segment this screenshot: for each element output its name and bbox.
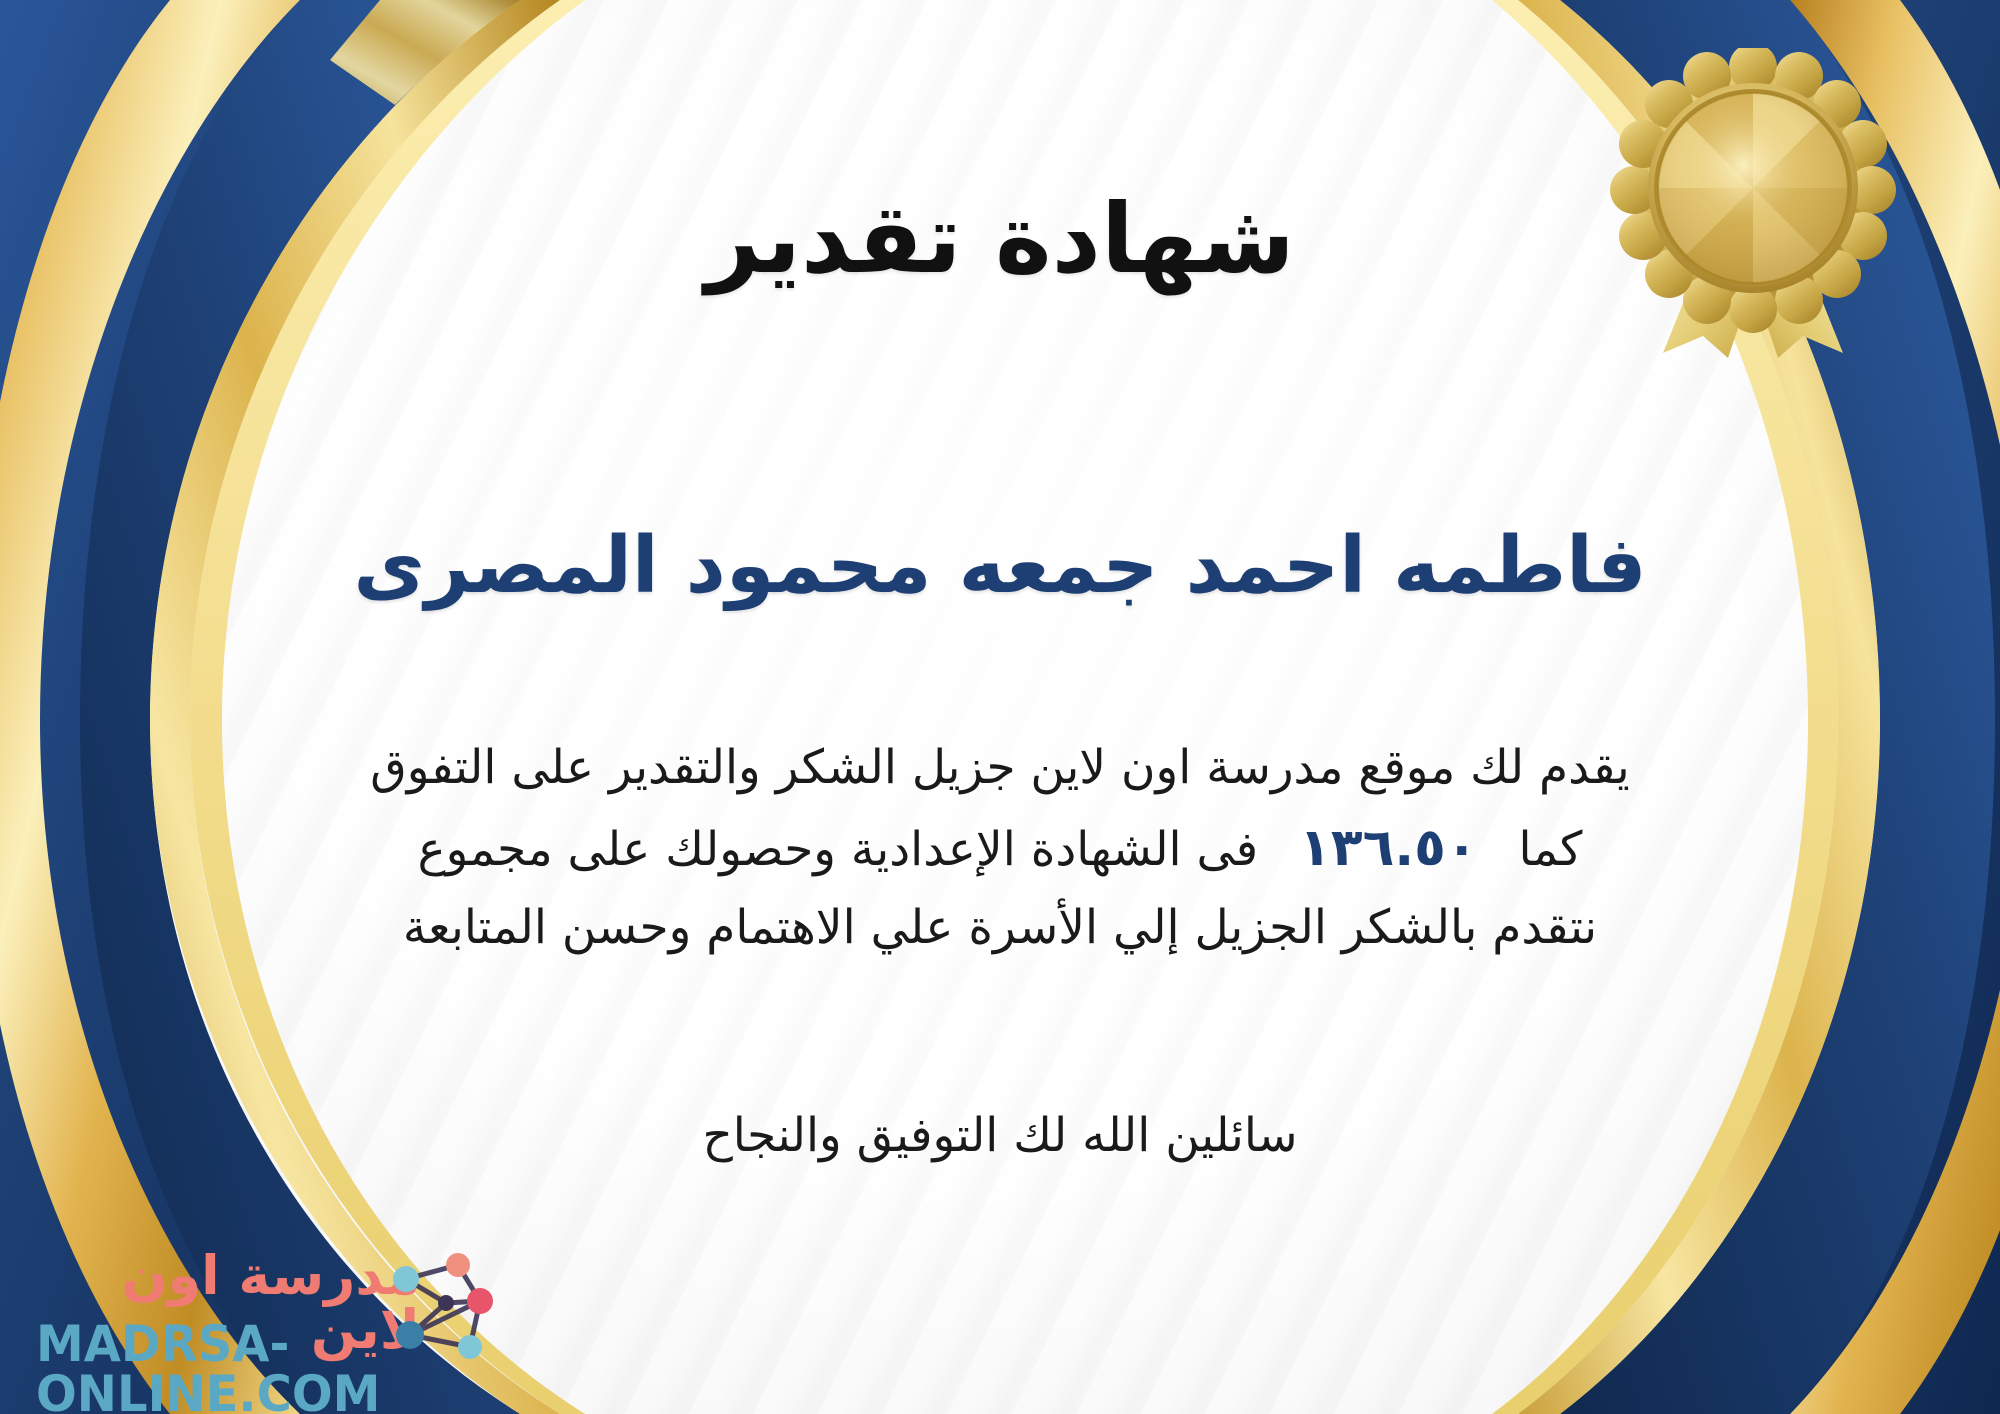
score-value: ١٣٦.٥٠ (1273, 818, 1503, 878)
body-line-2-prefix: فى الشهادة الإعدادية وحصولك على مجموع (418, 822, 1259, 877)
certificate-canvas: شهادة تقدير فاطمه احمد جمعه محمود المصرى… (0, 0, 2000, 1414)
certificate-title: شهادة تقدير (0, 184, 2000, 294)
body-line-3: نتقدم بالشكر الجزيل إلي الأسرة علي الاهت… (60, 890, 1940, 966)
certificate-content: شهادة تقدير فاطمه احمد جمعه محمود المصرى… (0, 0, 2000, 1414)
recipient-name: فاطمه احمد جمعه محمود المصرى (0, 520, 2000, 614)
closing-wish: سائلين الله لك التوفيق والنجاح (0, 1108, 2000, 1163)
body-line-2: كما ١٣٦.٥٠ فى الشهادة الإعدادية وحصولك ع… (60, 806, 1940, 890)
network-nodes-icon (384, 1243, 504, 1373)
site-logo[interactable]: مدرسة اون لاين MADRSA-ONLINE.COM (30, 1237, 500, 1392)
body-line-2-suffix: كما (1519, 822, 1583, 877)
body-line-1: يقدم لك موقع مدرسة اون لاين جزيل الشكر و… (60, 730, 1940, 806)
certificate-body: يقدم لك موقع مدرسة اون لاين جزيل الشكر و… (60, 730, 1940, 966)
